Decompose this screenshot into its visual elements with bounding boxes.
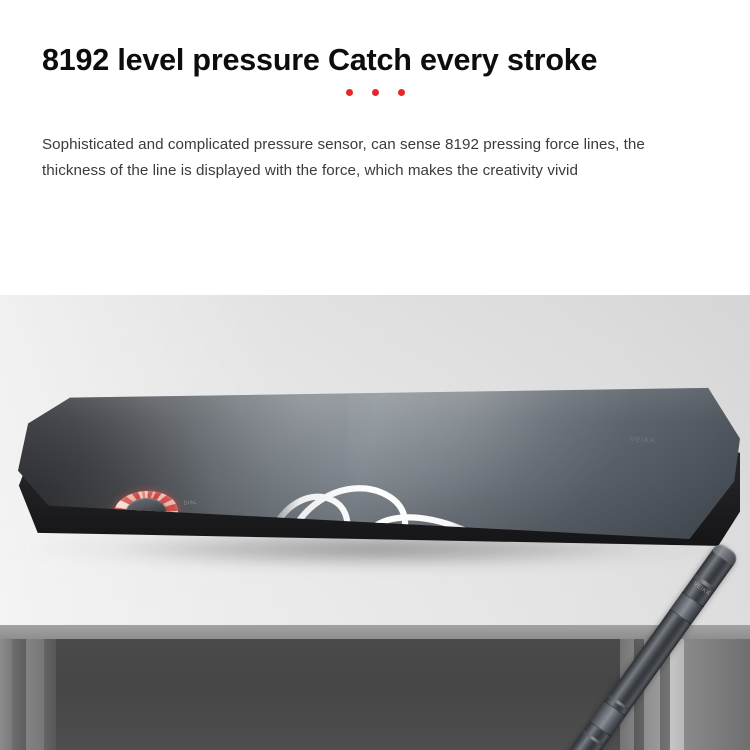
pen-side-button[interactable]: [670, 592, 704, 625]
desk-leg-strip: [26, 639, 44, 750]
desk-leg-strip: [44, 639, 56, 750]
description-text: Sophisticated and complicated pressure s…: [42, 132, 697, 183]
product-photo: VEIKK DIAL: [0, 295, 750, 750]
desk-leg-strip: [0, 639, 12, 750]
pen-accent-ring: [582, 730, 605, 748]
express-key-button[interactable]: [103, 571, 236, 591]
desk-leg-strip: [12, 639, 26, 750]
separator-dot-icon: [398, 89, 405, 96]
separator-dot-icon: [372, 89, 379, 96]
separator-dot-icon: [346, 89, 353, 96]
page-title: 8192 level pressure Catch every stroke: [42, 41, 712, 79]
separator-dots: [0, 89, 750, 96]
express-key-button[interactable]: [98, 590, 227, 610]
product-feature-page: 8192 level pressure Catch every stroke S…: [0, 0, 750, 750]
header-text-block: 8192 level pressure Catch every stroke S…: [0, 0, 750, 295]
stylus-pen[interactable]: VEIKK: [472, 492, 702, 750]
